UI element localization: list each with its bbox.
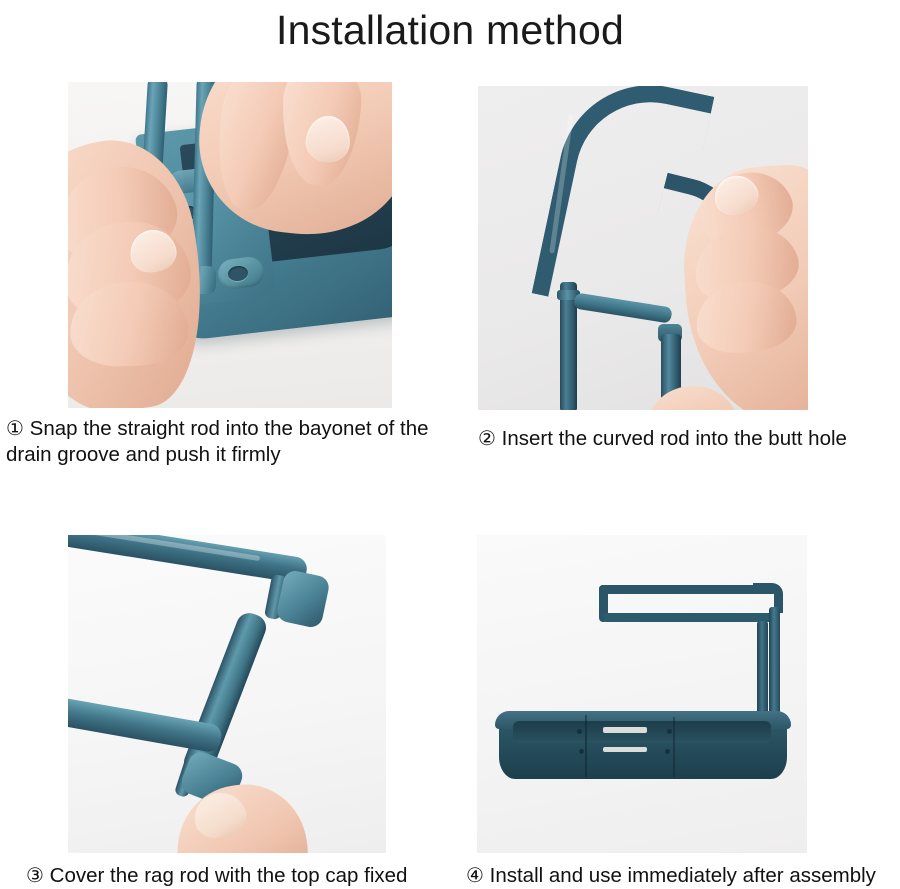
- step-4-illustration: [477, 535, 807, 853]
- rivet: [577, 729, 582, 734]
- step-4-photo: [477, 535, 807, 853]
- drain-slot: [603, 747, 647, 752]
- telescopic-seam: [673, 717, 675, 777]
- step-2-illustration: [478, 86, 808, 410]
- step-1-illustration: [68, 82, 392, 408]
- drain-slot: [603, 727, 647, 733]
- page-title: Installation method: [0, 0, 900, 58]
- step-3-number: ③: [26, 865, 44, 887]
- hanging-rail-upper: [599, 585, 777, 594]
- step-4-number: ④: [466, 865, 484, 887]
- step-2: ② Insert the curved rod into the butt ho…: [460, 58, 900, 448]
- step-2-photo: [478, 86, 808, 410]
- rivet: [667, 729, 672, 734]
- hanging-rail-lower: [603, 613, 775, 622]
- telescopic-seam: [585, 715, 587, 777]
- step-1: ① Snap the straight rod into the bayonet…: [0, 58, 460, 448]
- step-2-number: ②: [478, 428, 496, 450]
- rivet: [579, 749, 584, 754]
- step-3: ③ Cover the rag rod with the top cap fix…: [0, 448, 460, 845]
- installation-steps-grid: ① Snap the straight rod into the bayonet…: [0, 58, 900, 845]
- step-1-number: ①: [6, 418, 24, 440]
- step-4-caption-text: Install and use immediately after assemb…: [490, 864, 876, 887]
- step-2-caption-text: Insert the curved rod into the butt hole: [502, 427, 847, 450]
- step-4: ④ Install and use immediately after asse…: [460, 448, 900, 845]
- step-4-caption: ④ Install and use immediately after asse…: [466, 863, 900, 889]
- step-3-caption-text: Cover the rag rod with the top cap fixed: [50, 864, 408, 887]
- step-3-photo: [68, 535, 386, 853]
- rivet: [665, 749, 670, 754]
- step-3-illustration: [68, 535, 386, 853]
- step-1-photo: [68, 82, 392, 408]
- step-3-caption: ③ Cover the rag rod with the top cap fix…: [26, 863, 456, 889]
